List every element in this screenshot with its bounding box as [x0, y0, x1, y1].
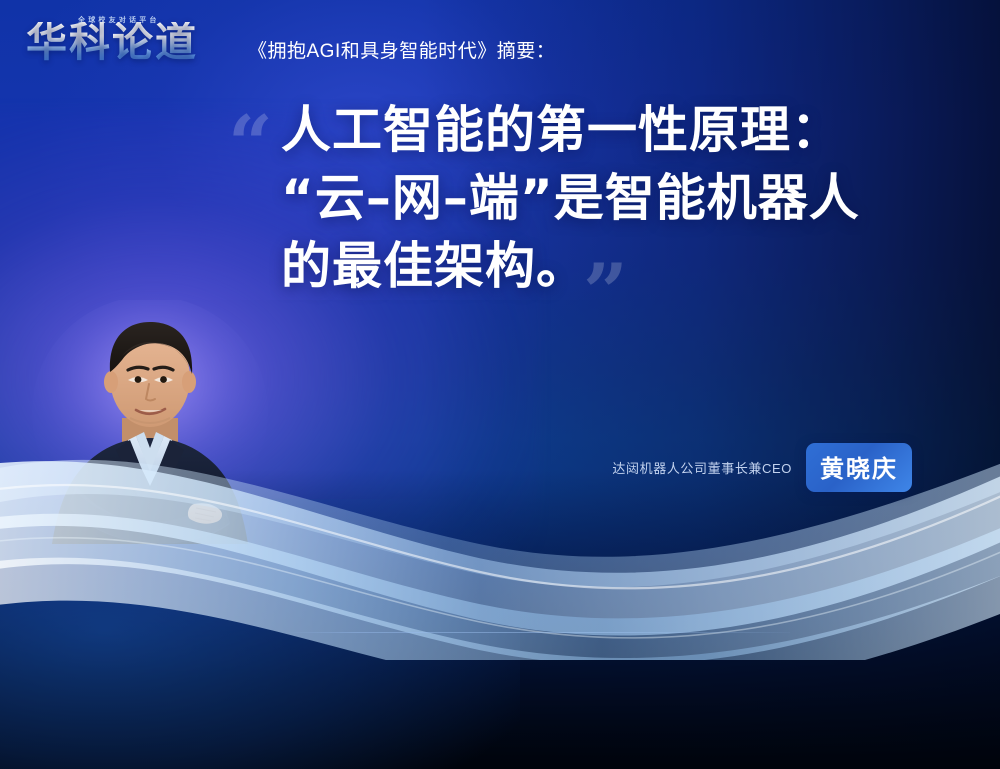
- header-bar: 全球校友对话平台 华科论道 《拥抱AGI和具身智能时代》摘要：: [0, 0, 1000, 86]
- logo-title: 华科论道: [26, 22, 198, 63]
- speaker-portrait: [18, 300, 282, 600]
- poster-canvas: 全球校友对话平台 华科论道 《拥抱AGI和具身智能时代》摘要： “ ” 人工智能…: [0, 0, 1000, 769]
- speaker-credit: 达闼机器人公司董事长兼CEO 黄晓庆: [612, 443, 912, 492]
- portrait-illustration: [18, 300, 282, 600]
- footer-divider: [288, 632, 790, 633]
- header-subtitle: 《拥抱AGI和具身智能时代》摘要：: [248, 36, 555, 63]
- brand-logo[interactable]: 全球校友对话平台 华科论道: [26, 14, 222, 72]
- speaker-name-badge: 黄晓庆: [806, 443, 912, 492]
- speaker-title: 达闼机器人公司董事长兼CEO: [612, 458, 792, 477]
- footer-section: 入群请咨询工作人员： 微信号 srh15029033920 (苏同学) 微信号 …: [0, 636, 1000, 769]
